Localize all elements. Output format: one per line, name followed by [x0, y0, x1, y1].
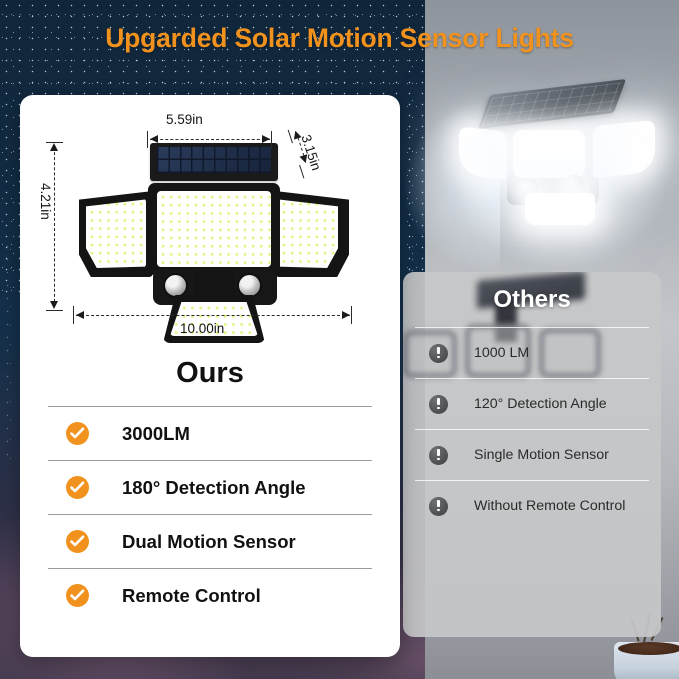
dimension-arrow	[150, 135, 158, 143]
ours-feature-row: 3000LM	[48, 406, 372, 460]
dimension-arrow	[262, 135, 270, 143]
plant-soil	[618, 642, 679, 655]
check-circle-icon	[66, 476, 89, 499]
led-panel-bottom-glowing	[525, 193, 595, 225]
dimension-tick	[351, 306, 352, 324]
ours-feature-row: Dual Motion Sensor	[48, 514, 372, 568]
motion-sensor-right	[237, 273, 262, 298]
others-heading: Others	[403, 286, 661, 314]
dimension-tick	[147, 131, 148, 148]
dimension-bottom-label: 10.00in	[180, 321, 224, 336]
motion-sensor-left	[163, 273, 188, 298]
solar-cell-grid	[157, 147, 271, 173]
dimension-diagram: 5.59in 3.15in 4.21in	[20, 95, 400, 345]
led-panel-right-glowing	[593, 120, 655, 179]
others-card: Others 1000 LM 120° Detection Angle Sing…	[403, 272, 661, 637]
ours-feature-label: Remote Control	[122, 585, 261, 607]
ours-feature-label: 180° Detection Angle	[122, 477, 306, 499]
ours-feature-label: Dual Motion Sensor	[122, 531, 296, 553]
exclamation-circle-icon	[429, 497, 448, 516]
others-feature-label: 1000 LM	[474, 345, 529, 361]
check-circle-icon	[66, 584, 89, 607]
led-panel-left-glowing	[459, 126, 507, 179]
dimension-tick	[73, 306, 74, 324]
others-feature-label: Single Motion Sensor	[474, 447, 609, 463]
dimension-line-height	[54, 147, 55, 307]
exclamation-circle-icon	[429, 446, 448, 465]
others-feature-row: Without Remote Control	[415, 480, 649, 531]
ours-heading: Ours	[20, 357, 400, 390]
ours-feature-row: Remote Control	[48, 568, 372, 622]
dimension-arrow	[342, 311, 350, 319]
dimension-arrow	[50, 143, 58, 151]
dimension-line-bottom	[76, 315, 350, 316]
ours-feature-label: 3000LM	[122, 423, 190, 445]
others-feature-label: 120° Detection Angle	[474, 396, 607, 412]
dimension-height-label: 4.21in	[38, 183, 53, 220]
check-circle-icon	[66, 530, 89, 553]
exclamation-circle-icon	[429, 344, 448, 363]
led-array-right	[278, 198, 338, 268]
dimension-line-top	[150, 139, 270, 140]
led-panel-center-glowing	[513, 130, 585, 178]
dimension-arrow	[76, 311, 84, 319]
others-feature-label: Without Remote Control	[474, 498, 625, 514]
led-array-left	[86, 198, 146, 268]
dimension-tick	[271, 131, 272, 148]
ours-card: 5.59in 3.15in 4.21in	[20, 95, 400, 657]
led-array-center	[157, 191, 271, 267]
others-feature-row: Single Motion Sensor	[415, 429, 649, 480]
product-comparison-image: Upgarded Solar Motion Sensor Lights	[0, 0, 679, 679]
lit-product-photo	[455, 85, 670, 250]
others-feature-row: 1000 LM	[415, 327, 649, 378]
page-title: Upgarded Solar Motion Sensor Lights	[0, 23, 679, 54]
check-circle-icon	[66, 422, 89, 445]
dimension-tick	[46, 310, 63, 311]
others-feature-list: 1000 LM 120° Detection Angle Single Moti…	[415, 327, 649, 531]
product-illustration	[75, 143, 347, 333]
dimension-arrow	[50, 301, 58, 309]
others-feature-row: 120° Detection Angle	[415, 378, 649, 429]
dimension-top-label: 5.59in	[166, 112, 203, 127]
exclamation-circle-icon	[429, 395, 448, 414]
solar-panel-glowing	[478, 79, 626, 129]
ours-feature-list: 3000LM 180° Detection Angle Dual Motion …	[48, 406, 372, 622]
ours-feature-row: 180° Detection Angle	[48, 460, 372, 514]
